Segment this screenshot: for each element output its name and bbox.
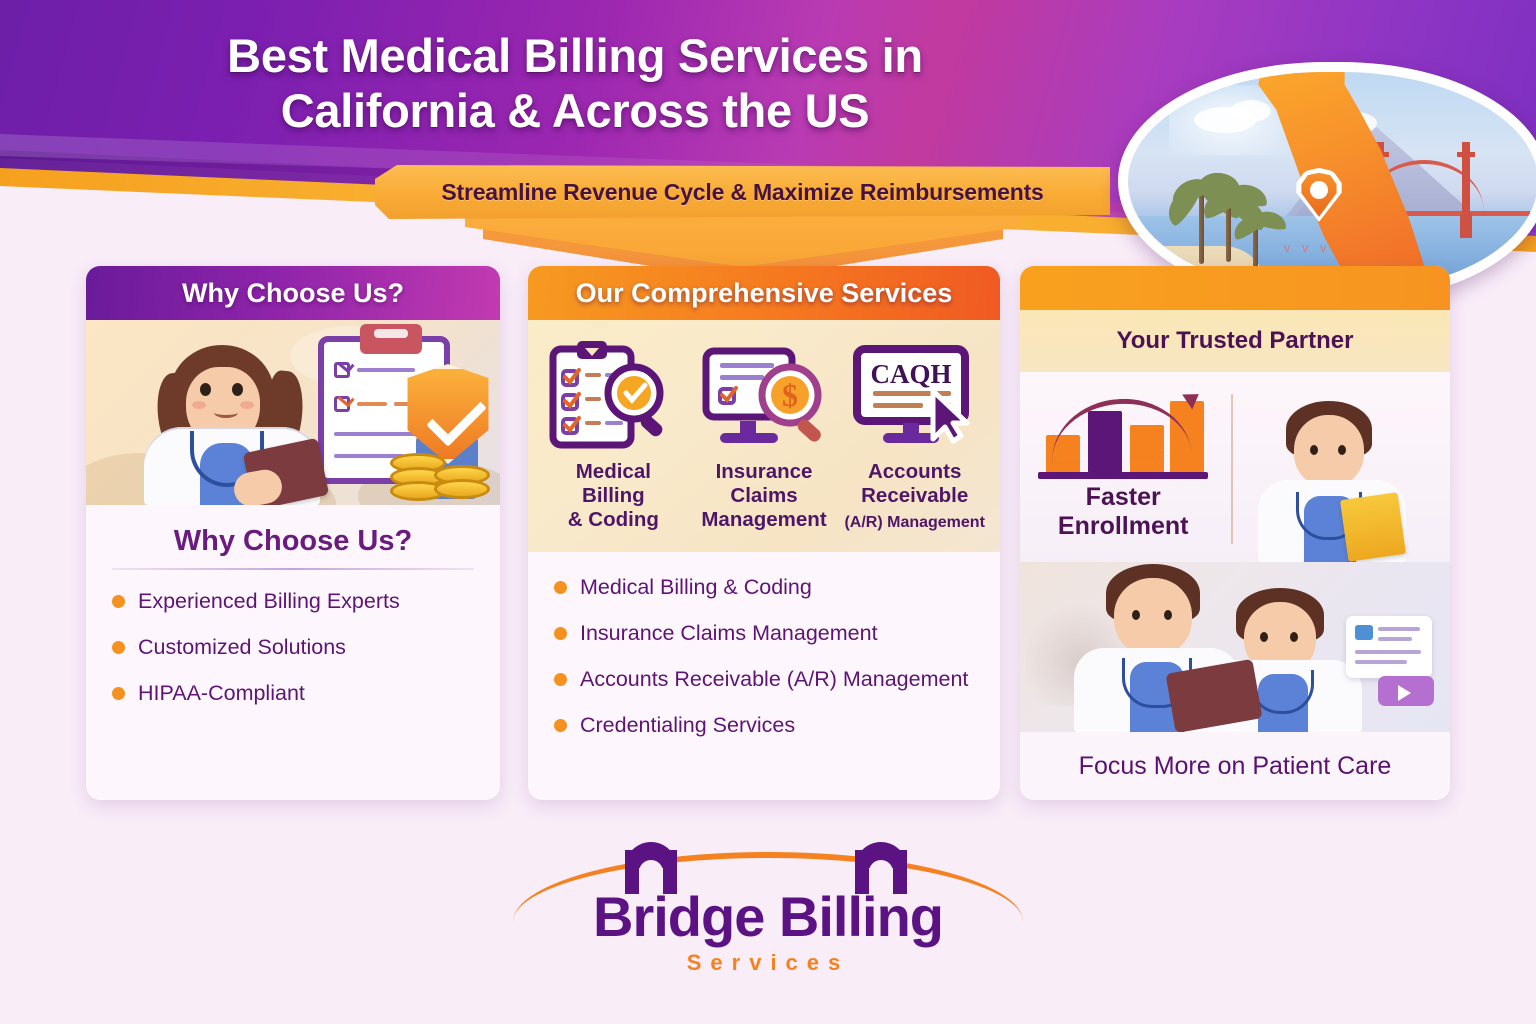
benefits-list: Experienced Billing Experts Customized S… (112, 588, 474, 708)
service-caption-line: Medical (542, 460, 685, 484)
list-item: Credentialing Services (554, 712, 974, 740)
list-item: Medical Billing & Coding (554, 574, 974, 602)
page-title-line-2: California & Across the US (0, 83, 1150, 138)
two-doctors-reviewing-chart-illustration (1020, 562, 1450, 732)
logo-tagline: Services (503, 950, 1033, 976)
card-footer-trusted-partner: Focus More on Patient Care (1020, 732, 1450, 800)
card-header-label: Your Trusted Partner (1117, 327, 1354, 355)
palm-tree-icon (1231, 210, 1287, 268)
bullet-dot-icon (554, 673, 567, 686)
logo-wordmark: Bridge Billing (503, 884, 1033, 949)
card-our-services[interactable]: Our Comprehensive Services (528, 266, 1000, 800)
list-item-label: HIPAA-Compliant (138, 680, 305, 708)
page-title-line-1: Best Medical Billing Services in (0, 28, 1150, 83)
doctor-with-book-illustration (1226, 372, 1450, 562)
card-body-our-services: Medical Billing & Coding Insurance Claim… (528, 552, 1000, 740)
faster-enrollment-line-2: Enrollment (1058, 512, 1189, 541)
coins-icon (390, 447, 494, 503)
list-item: Accounts Receivable (A/R) Management (554, 666, 974, 694)
list-item-label: Experienced Billing Experts (138, 588, 400, 616)
service-caption-line: Insurance (693, 460, 836, 484)
play-bubble-icon (1378, 676, 1434, 706)
subtitle-text: Streamline Revenue Cycle & Maximize Reim… (441, 179, 1043, 206)
card-header-label: Our Comprehensive Services (576, 278, 953, 309)
card-header-trusted-partner: Your Trusted Partner (1020, 310, 1450, 372)
page-title: Best Medical Billing Services in Califor… (0, 28, 1150, 139)
bullet-dot-icon (112, 687, 125, 700)
card-header-label: Why Choose Us? (182, 278, 404, 309)
trusted-partner-upper: Faster Enrollment (1020, 372, 1450, 562)
list-item-label: Medical Billing & Coding (580, 574, 812, 602)
page-header: Best Medical Billing Services in Califor… (0, 0, 1536, 270)
california-map-illustration: v v v (1128, 72, 1536, 290)
brand-logo[interactable]: Bridge Billing Services (0, 832, 1536, 982)
card-header-why-choose-us: Why Choose Us? (86, 266, 500, 320)
ui-card-icon (1346, 616, 1432, 678)
birds-icon: v v v (1284, 240, 1331, 255)
bullet-dot-icon (554, 627, 567, 640)
card-trusted-partner[interactable]: Your Trusted Partner Faster Enrollment (1020, 266, 1450, 800)
service-caption-line: Management (693, 508, 836, 532)
card-header-our-services: Our Comprehensive Services (528, 266, 1000, 320)
service-medical-billing-coding[interactable]: Medical Billing & Coding (542, 336, 685, 546)
service-caption-line: & Coding (542, 508, 685, 532)
list-item-label: Customized Solutions (138, 634, 346, 662)
ribbon-body: Streamline Revenue Cycle & Maximize Reim… (375, 165, 1110, 219)
california-map-badge: v v v (1118, 62, 1536, 300)
card-title: Why Choose Us? (112, 525, 474, 568)
service-accounts-receivable[interactable]: CAQH Accounts Receivable (A/R) Managemen… (843, 336, 986, 546)
doctor-avatar (142, 345, 312, 505)
list-item: Customized Solutions (112, 634, 474, 662)
clipboard-checklist-magnifier-icon (542, 336, 685, 454)
growth-bar-chart-arrow-icon (1038, 393, 1208, 479)
card-header-orange-strip (1020, 266, 1450, 310)
service-caption-line: Billing (542, 484, 685, 508)
faster-enrollment-block: Faster Enrollment (1020, 372, 1226, 562)
caqh-monitor-cursor-icon: CAQH (843, 336, 986, 454)
bullet-dot-icon (554, 719, 567, 732)
bullet-dot-icon (112, 641, 125, 654)
service-caption: Medical Billing & Coding (542, 460, 685, 533)
bullet-dot-icon (112, 595, 125, 608)
bullet-dot-icon (554, 581, 567, 594)
service-caption: Accounts Receivable (A/R) Management (843, 460, 986, 533)
list-item: Experienced Billing Experts (112, 588, 474, 616)
subtitle-ribbon: Streamline Revenue Cycle & Maximize Reim… (375, 165, 1110, 260)
list-item-label: Credentialing Services (580, 712, 795, 740)
list-item-label: Accounts Receivable (A/R) Management (580, 666, 968, 694)
cloud-icon (1231, 100, 1271, 122)
list-item-label: Insurance Claims Management (580, 620, 878, 648)
list-item: HIPAA-Compliant (112, 680, 474, 708)
service-caption-line: Receivable (843, 484, 986, 508)
list-item: Insurance Claims Management (554, 620, 974, 648)
caqh-screen-label: CAQH (870, 359, 951, 389)
svg-text:$: $ (782, 377, 798, 413)
service-insurance-claims[interactable]: $ Insurance Claims Management (693, 336, 836, 546)
cards-row: Why Choose Us? (0, 266, 1536, 806)
service-caption-line: Claims (693, 484, 836, 508)
service-caption-line: Accounts (843, 460, 986, 484)
faster-enrollment-label: Faster Enrollment (1058, 483, 1189, 541)
faster-enrollment-line-1: Faster (1058, 483, 1189, 512)
monitor-dollar-magnifier-icon: $ (693, 336, 836, 454)
location-pin-icon (1292, 168, 1346, 238)
card-body-why-choose-us: Why Choose Us? Experienced Billing Exper… (86, 505, 500, 708)
service-caption-sub: (A/R) Management (843, 514, 986, 533)
card-footer-label: Focus More on Patient Care (1079, 752, 1392, 781)
doctor-clipboard-shield-coins-illustration (86, 320, 500, 505)
services-icon-band: Medical Billing & Coding (528, 320, 1000, 552)
divider (112, 568, 474, 570)
service-caption: Insurance Claims Management (693, 460, 836, 533)
card-why-choose-us[interactable]: Why Choose Us? (86, 266, 500, 800)
doctor-avatar (1252, 397, 1412, 562)
services-list: Medical Billing & Coding Insurance Claim… (554, 574, 974, 740)
